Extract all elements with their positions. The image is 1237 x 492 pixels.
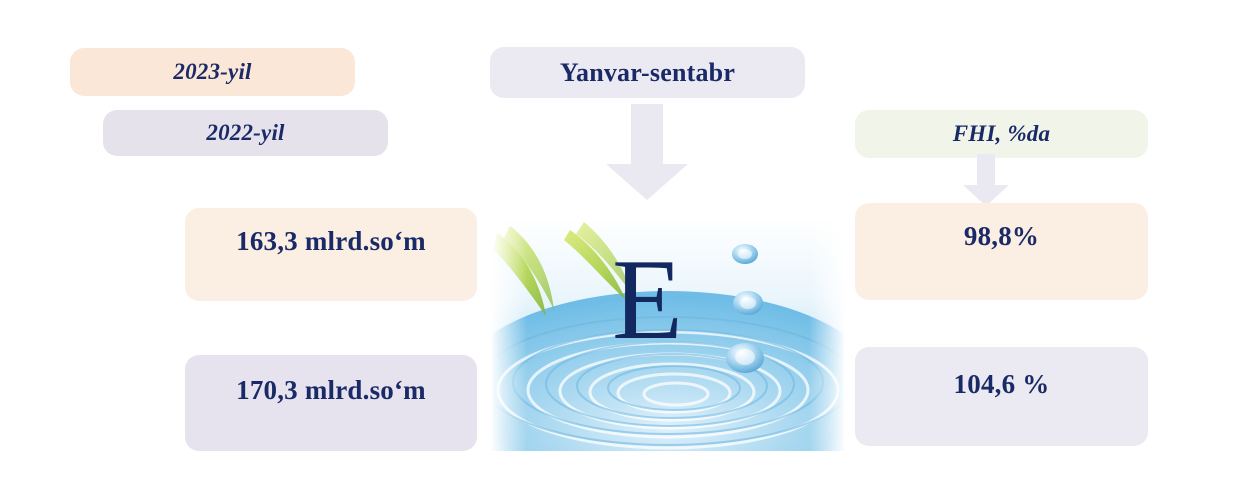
period-label: Yanvar-sentabr [560,58,735,88]
overlay-letter: E [612,242,683,358]
value-previous-amount: 170,3 mlrd.so‘m [236,375,426,406]
year-previous-header: 2022-yil [103,110,388,156]
year-current-label: 2023-yil [173,59,251,85]
down-arrow-icon [600,104,694,200]
period-header: Yanvar-sentabr [490,47,805,98]
water-ripple-photo: E [492,218,844,451]
measure-label: FHI, %da [953,121,1050,147]
down-arrow-icon [960,154,1012,206]
value-card-current-amount: 163,3 mlrd.so‘m [185,208,477,301]
value-card-previous-amount: 170,3 mlrd.so‘m [185,355,477,451]
value-card-current-percent: 98,8% [855,203,1148,300]
value-card-previous-percent: 104,6 % [855,347,1148,446]
value-current-percent: 98,8% [964,221,1039,252]
measure-header: FHI, %da [855,110,1148,158]
year-previous-label: 2022-yil [206,120,284,146]
year-current-header: 2023-yil [70,48,355,96]
slide-canvas: 2023-yil 2022-yil 163,3 mlrd.so‘m 170,3 … [0,0,1237,492]
value-previous-percent: 104,6 % [954,369,1050,400]
value-current-amount: 163,3 mlrd.so‘m [236,226,426,257]
